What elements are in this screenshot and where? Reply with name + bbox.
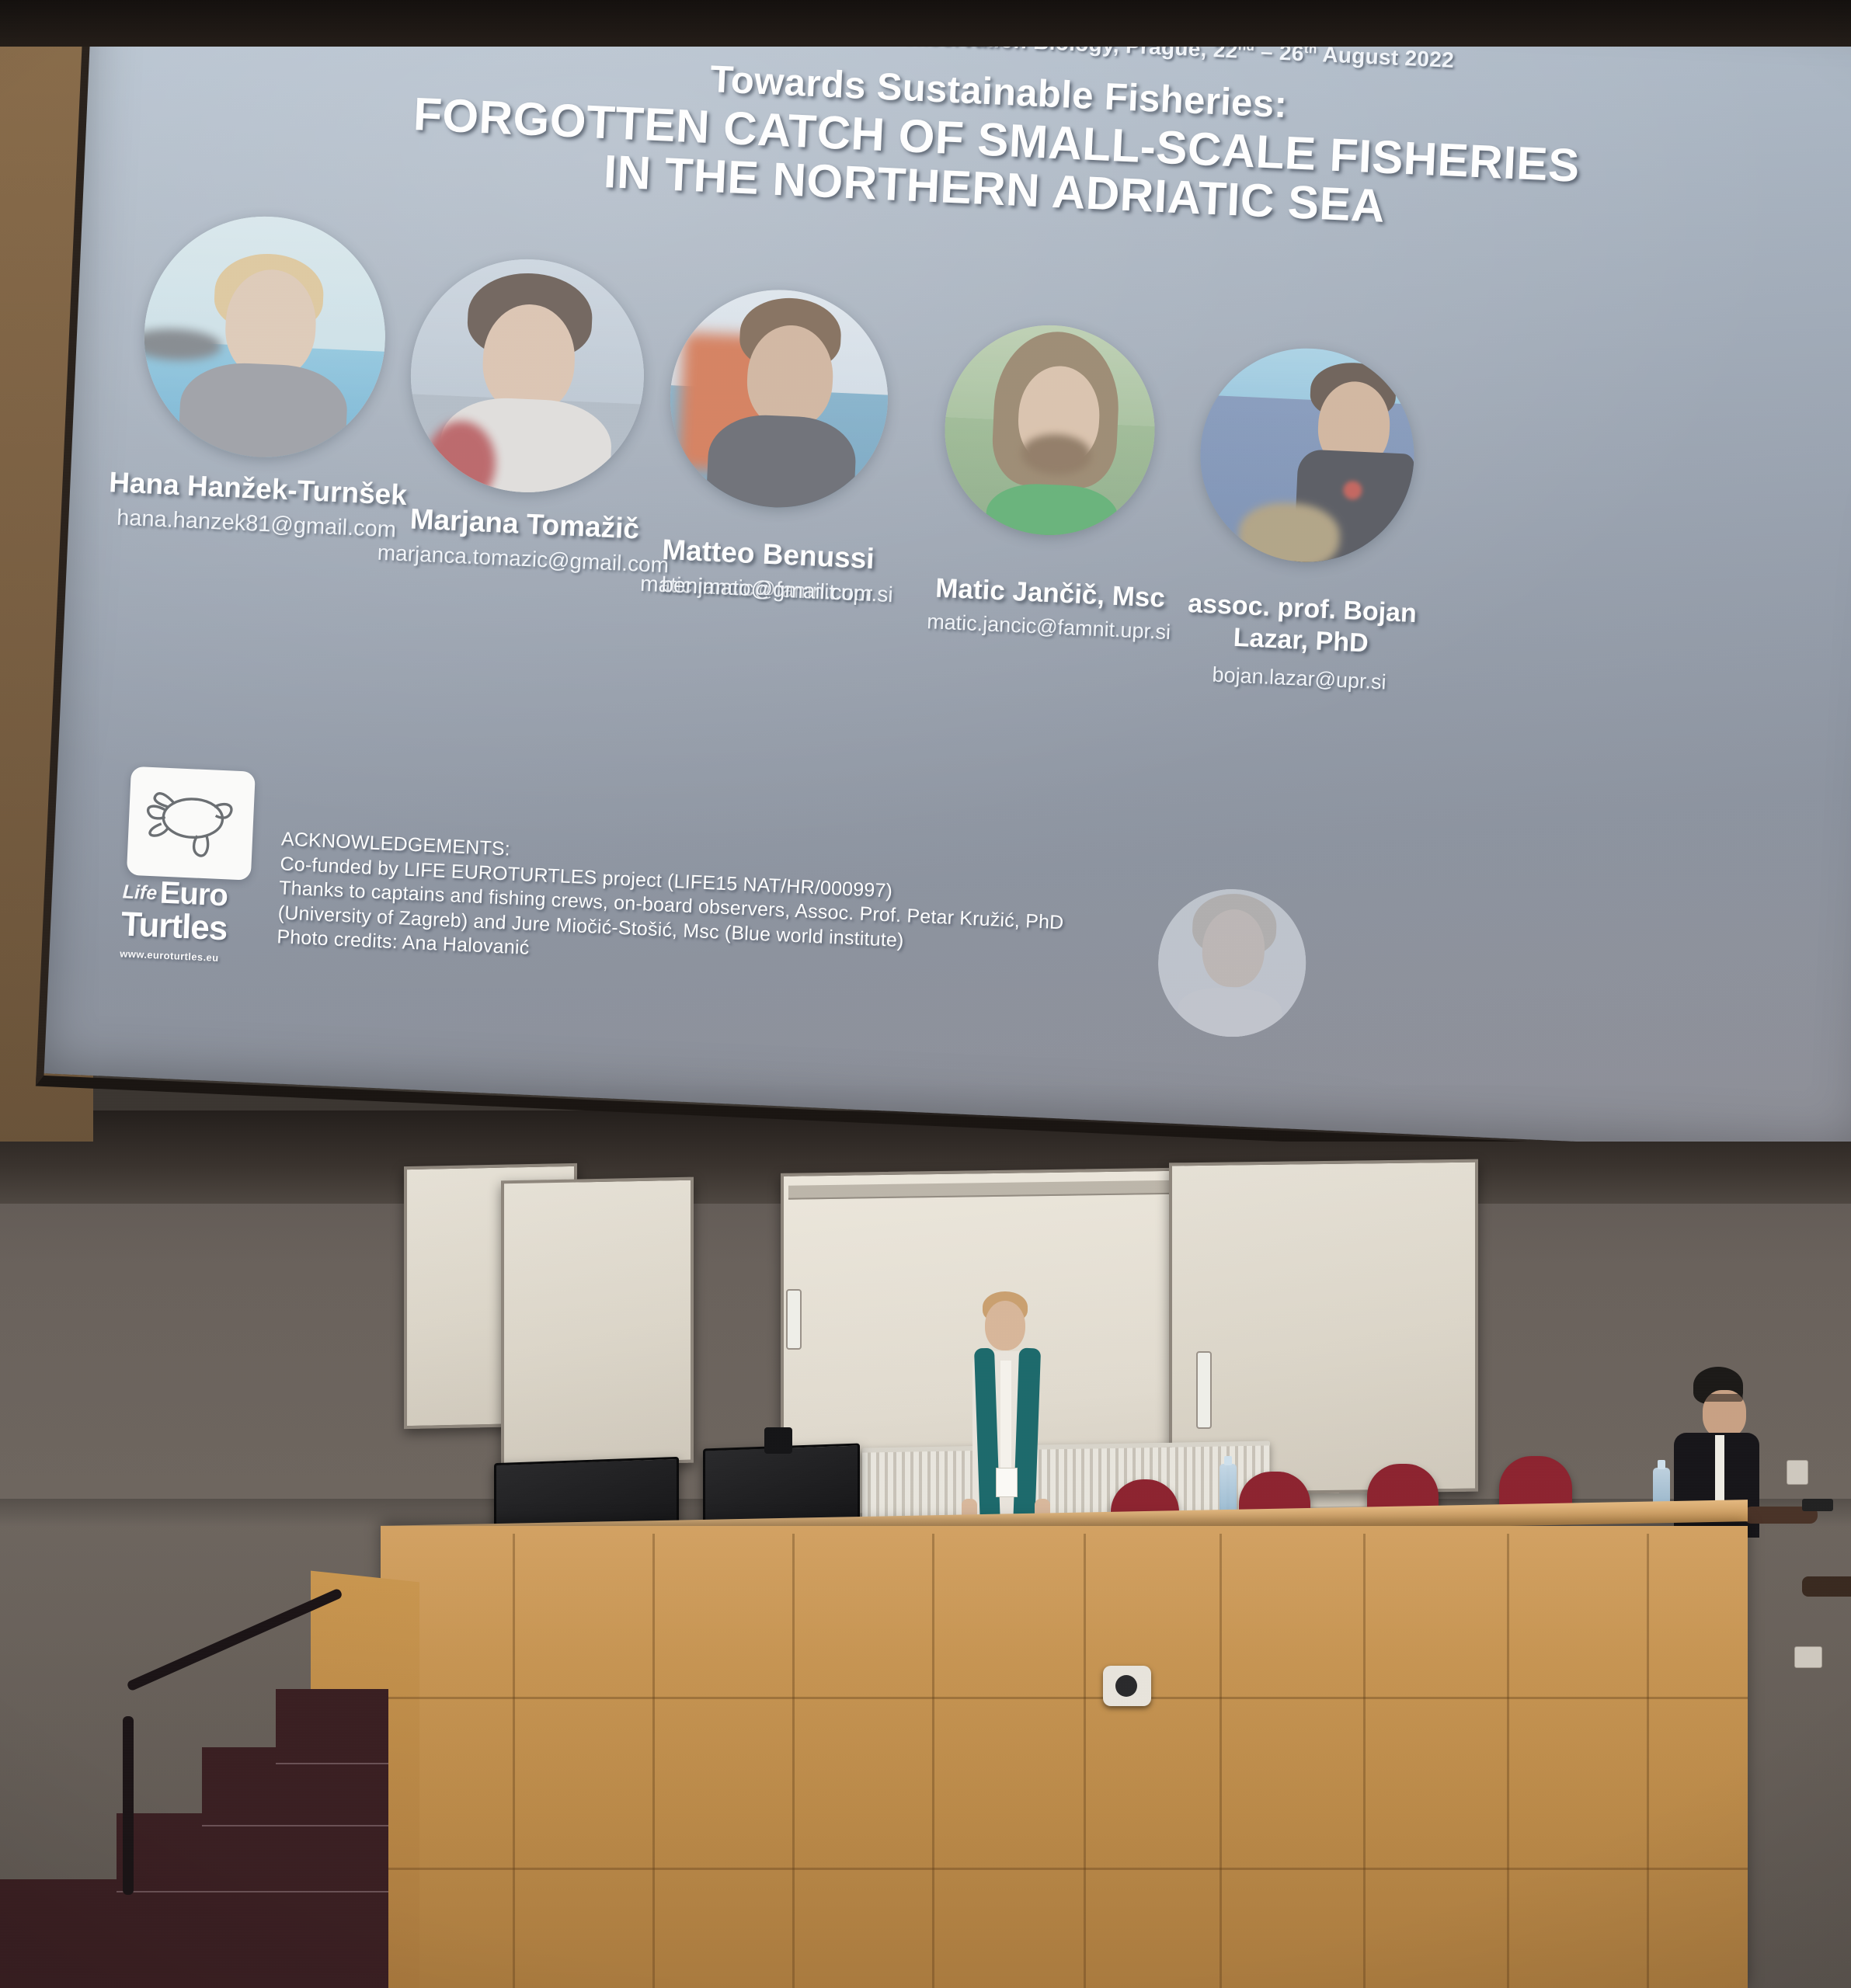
desk-seam-v2 xyxy=(652,1534,655,1988)
desk-seam-v5 xyxy=(1084,1534,1086,1988)
screen-frame xyxy=(36,0,1851,1142)
desk-seam-h2 xyxy=(381,1868,1748,1870)
desk-seam-h1 xyxy=(381,1697,1748,1699)
screenshot-root: ANNE EU SOLUTIONS 6th European Congress … xyxy=(0,0,1851,1988)
wall-socket-icon xyxy=(1787,1460,1808,1485)
projection-area: 6th European Congress of Conservation Bi… xyxy=(0,0,1851,1142)
presenter-lanyard xyxy=(1000,1361,1011,1477)
stairs xyxy=(0,1545,388,1988)
radiator xyxy=(862,1441,1270,1519)
whiteboard-eraser-icon xyxy=(1196,1351,1212,1429)
wall-outlet-icon xyxy=(1794,1646,1822,1668)
whiteboard-left-panel-b xyxy=(501,1177,694,1467)
stair-step-1 xyxy=(0,1879,388,1988)
presenter-badge xyxy=(996,1468,1018,1497)
stair-step-4 xyxy=(276,1689,388,1764)
podium-desk xyxy=(381,1526,1748,1988)
handrail-bar xyxy=(126,1588,343,1692)
desk-seam-v1 xyxy=(513,1534,515,1988)
ceiling-camera-puck-icon xyxy=(1103,1666,1151,1706)
desk-seam-v8 xyxy=(1507,1534,1509,1988)
attendee-phone-icon xyxy=(1802,1499,1833,1511)
monitor-camera-icon xyxy=(764,1427,792,1454)
water-bottle-center xyxy=(1220,1464,1237,1512)
whiteboard-marker-icon xyxy=(786,1289,802,1350)
desk-seam-v9 xyxy=(1647,1534,1649,1988)
desk-seam-v6 xyxy=(1220,1534,1222,1988)
attendee-second-hand xyxy=(1802,1576,1851,1597)
desk-seam-v7 xyxy=(1363,1534,1366,1988)
ceiling-strip xyxy=(0,0,1851,47)
desk-seam-v3 xyxy=(792,1534,795,1988)
attendee-glasses-icon xyxy=(1701,1394,1743,1402)
presenter-head xyxy=(985,1301,1025,1350)
desk-seam-v4 xyxy=(932,1534,934,1988)
handrail-post xyxy=(123,1716,134,1895)
